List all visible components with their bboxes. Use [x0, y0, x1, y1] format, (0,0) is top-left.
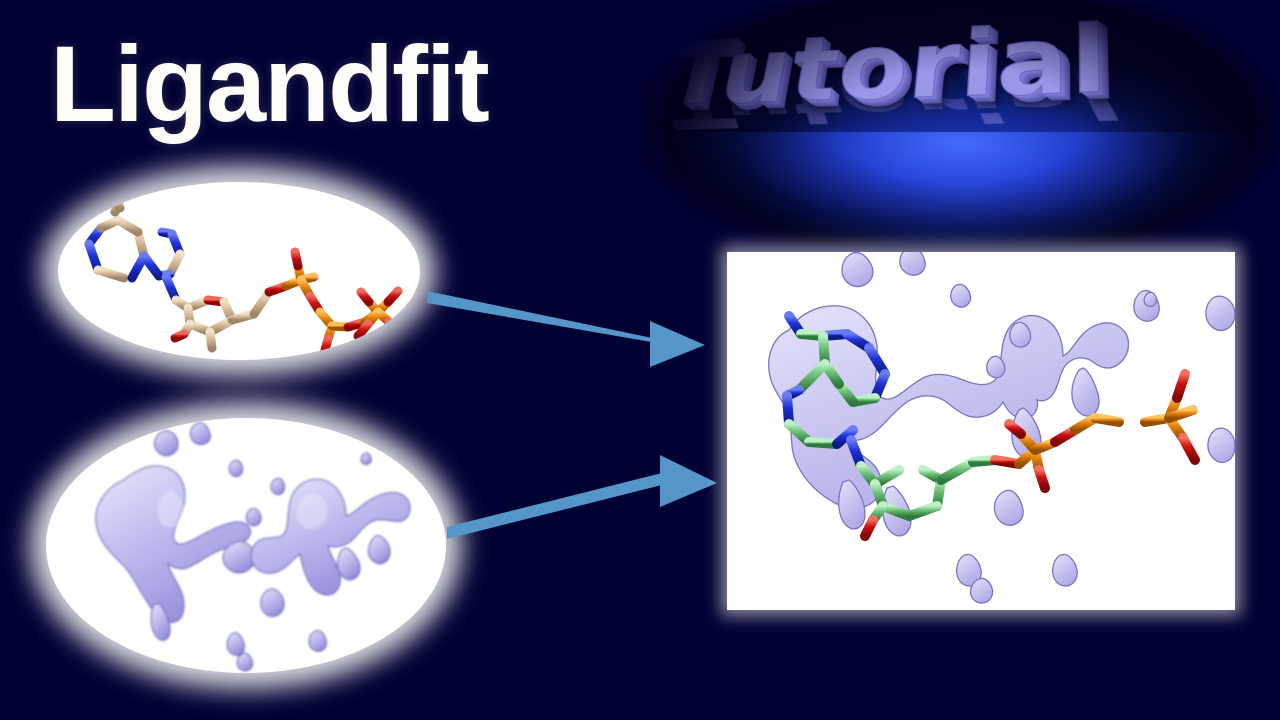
ligand-stick-model-diagram: [58, 182, 420, 360]
fitted-ligand-in-density: [727, 252, 1235, 610]
ligand-thumbnail-clip: [58, 182, 420, 360]
electron-density-isosurface-diagram: [46, 418, 446, 673]
arrow-density-to-result: [445, 455, 720, 545]
ligand-model-thumbnail: [58, 182, 420, 360]
electron-density-thumbnail: [46, 418, 446, 673]
tutorial-reflective-floor: [640, 132, 1280, 246]
fitted-ligand-diagram: [727, 252, 1235, 610]
tutorial-banner-art: Tutorial Tutorial: [640, 0, 1280, 246]
density-thumbnail-clip: [46, 418, 446, 673]
slide-canvas: Tutorial Tutorial Ligandfit: [0, 0, 1280, 720]
page-title: Ligandfit: [50, 24, 488, 145]
tutorial-word: Tutorial: [666, 7, 1122, 126]
density-envelope: [769, 252, 1235, 603]
arrow-ligand-to-result: [425, 283, 715, 393]
